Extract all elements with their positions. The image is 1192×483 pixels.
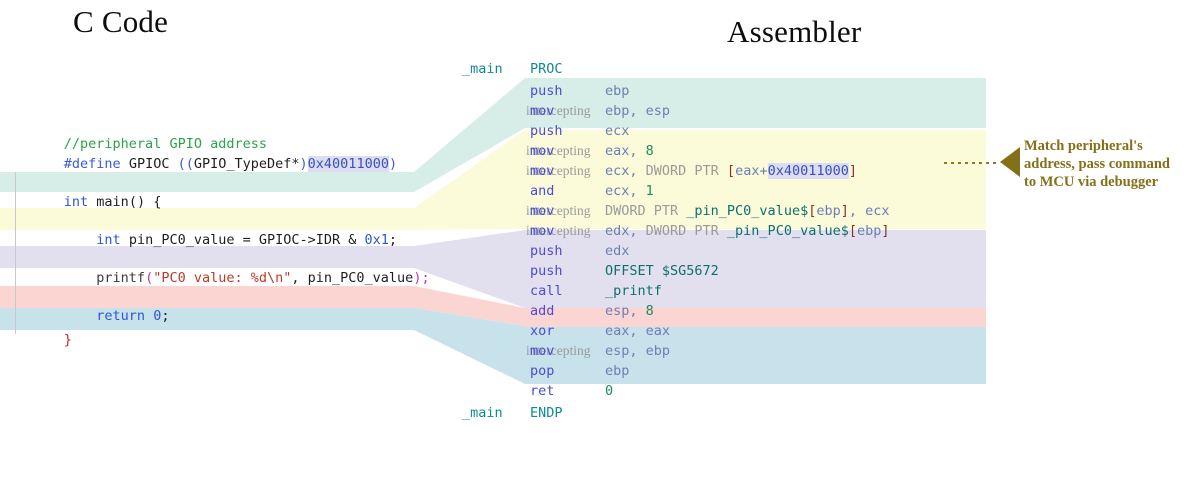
c-line-close-brace: } — [15, 310, 429, 330]
c-address-literal: 0x40011000 — [308, 156, 389, 172]
asm-row-and-ecx-1: and ecx, 1 — [420, 181, 1000, 201]
asm-row-call-printf: call _printf — [420, 281, 1000, 301]
asm-row-mov-ecx-dword: intercepting mov ecx, DWORD PTR [eax+0x4… — [420, 161, 1000, 181]
callout-note: Match peripheral's address, pass command… — [1024, 137, 1192, 191]
asm-row-add-esp-8: add esp, 8 — [420, 301, 1000, 321]
asm-row-push-edx: push edx — [420, 241, 1000, 261]
asm-row-endp: _main ENDP — [420, 403, 1000, 423]
asm-row-mov-esp-ebp: intercepting mov esp, ebp — [420, 341, 1000, 361]
callout-dotted-connector — [944, 162, 1000, 164]
asm-row-xor-eax: xor eax, eax — [420, 321, 1000, 341]
asm-row-push-ecx: push ecx — [420, 121, 1000, 141]
asm-address-literal: 0x40011000 — [768, 163, 849, 179]
asm-row-mov-ebp-esp: intercepting mov ebp, esp — [420, 101, 1000, 121]
asm-row-mov-load: intercepting mov edx, DWORD PTR _pin_PC0… — [420, 221, 1000, 241]
asm-row-proc: _main PROC — [420, 59, 1000, 79]
asm-row-ret-0: ret 0 — [420, 381, 1000, 401]
assembler-pane: _main PROC push ebp intercepting mov ebp… — [420, 55, 1000, 405]
assembler-heading: Assembler — [727, 14, 861, 50]
asm-row-pop-ebp: pop ebp — [420, 361, 1000, 381]
callout-line-3: to MCU via debugger — [1024, 173, 1192, 191]
asm-row-push-ebp: push ebp — [420, 81, 1000, 101]
asm-row-mov-eax-8: intercepting mov eax, 8 — [420, 141, 1000, 161]
callout-line-1: Match peripheral's — [1024, 137, 1192, 155]
c-line-return: return 0; — [15, 286, 429, 306]
slide-canvas: C Code Assembler //peripheral GPIO addre… — [0, 0, 1192, 409]
c-line-assign: int pin_PC0_value = GPIOC->IDR & 0x1; — [15, 210, 429, 230]
callout-arrow-icon — [1000, 147, 1020, 177]
c-line-printf: printf("PC0 value: %d\n", pin_PC0_value)… — [15, 248, 429, 268]
c-code-heading: C Code — [73, 4, 168, 40]
c-line-define: #define GPIOC ((GPIO_TypeDef*)0x40011000… — [15, 134, 429, 154]
callout-line-2: address, pass command — [1024, 155, 1192, 173]
c-line-main-open: int main() { — [15, 172, 429, 192]
c-line-comment: //peripheral GPIO address — [15, 114, 429, 134]
asm-row-push-offset: push OFFSET $SG5672 — [420, 261, 1000, 281]
asm-row-mov-store: intercepting mov DWORD PTR _pin_PC0_valu… — [420, 201, 1000, 221]
c-code-pane: //peripheral GPIO address #define GPIOC … — [0, 110, 414, 330]
